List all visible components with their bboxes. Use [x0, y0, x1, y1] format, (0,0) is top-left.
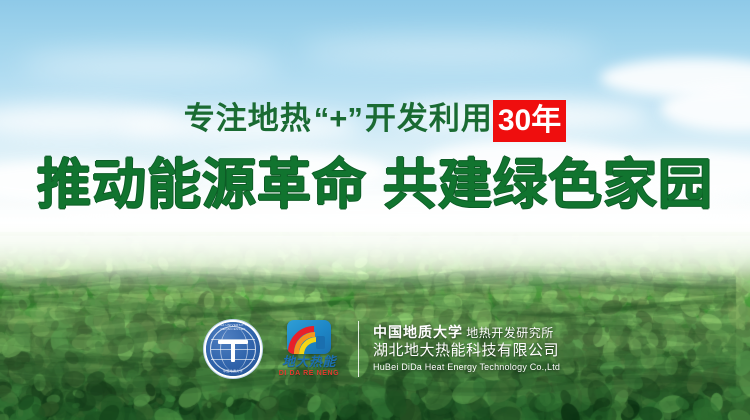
logo-notch: [316, 336, 325, 349]
promotional-banner: 专注地热“+”开发利用30年 推动能源革命共建绿色家园 CHINA UNIVER…: [0, 0, 750, 420]
sub-headline-prefix: 专注地热: [184, 101, 312, 136]
org-line-1: 中国地质大学 地热开发研究所: [373, 325, 560, 342]
brand-name-cn: 地大热能: [272, 355, 346, 369]
emblem-bottom-microtext: 中国地质大学: [206, 369, 260, 373]
main-headline: 推动能源革命共建绿色家园: [0, 154, 750, 216]
organization-info: 中国地质大学 地热开发研究所 湖北地大热能科技有限公司 HuBei DiDa H…: [373, 325, 560, 374]
emblem-top-microtext: CHINA UNIVERSITY OF GEOSCIENCES: [206, 323, 260, 331]
main-headline-right: 共建绿色家园: [383, 155, 713, 215]
university-emblem-icon: CHINA UNIVERSITY OF GEOSCIENCES 中国地质大学: [206, 322, 260, 376]
brand-name-en: DI DA RE NENG: [272, 369, 346, 378]
institute-name: 地热开发研究所: [466, 326, 554, 340]
headline-block: 专注地热“+”开发利用30年 推动能源革命共建绿色家园: [0, 0, 750, 216]
dida-brand-logo: 地大热能 DI DA RE NENG: [272, 320, 346, 378]
main-headline-left: 推动能源革命: [37, 155, 367, 215]
geology-hammer-icon: [218, 336, 248, 362]
dida-rainbow-icon: [287, 320, 331, 354]
company-name-cn: 湖北地大热能科技有限公司: [373, 342, 560, 361]
company-name-en: HuBei DiDa Heat Energy Technology Co.,Lt…: [373, 361, 560, 374]
years-badge: 30年: [493, 100, 566, 142]
vertical-divider: [358, 321, 359, 377]
sub-headline-plus: “+”: [312, 101, 365, 136]
sub-headline: 专注地热“+”开发利用30年: [0, 98, 750, 140]
hammer-handle: [231, 340, 235, 362]
sub-headline-middle: 开发利用: [365, 101, 493, 136]
university-name: 中国地质大学: [373, 326, 463, 341]
footer-logo-lockup: CHINA UNIVERSITY OF GEOSCIENCES 中国地质大学 地…: [206, 318, 560, 380]
